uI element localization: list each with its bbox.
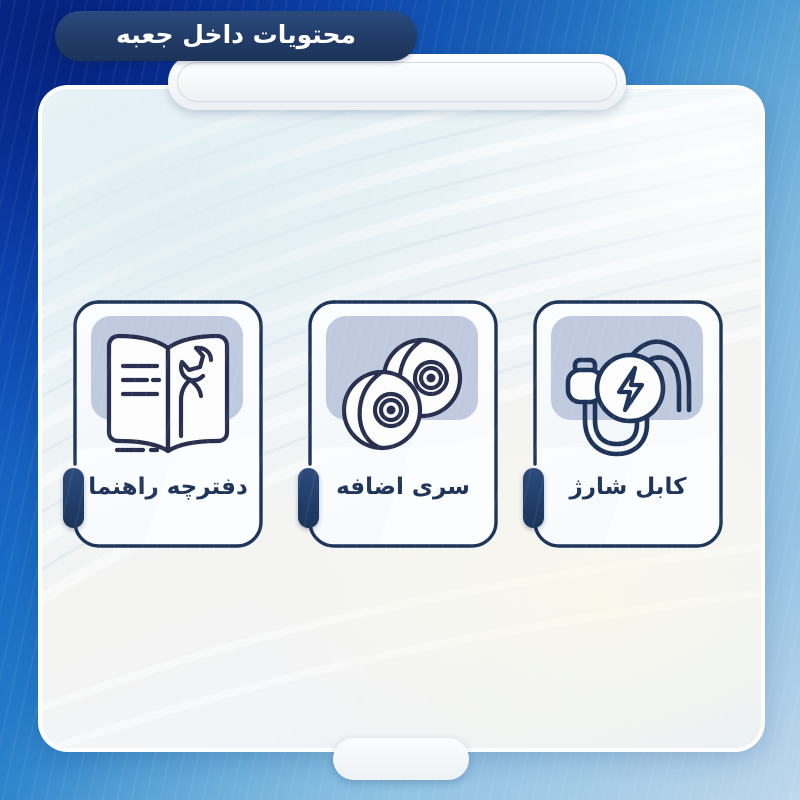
card-accent-pill [523, 468, 544, 528]
open-book-wrench-icon [95, 320, 241, 470]
infographic-canvas: محتویات داخل جعبه [0, 0, 800, 800]
card-accent-pill [63, 468, 84, 528]
title-pill-inner: محتویات داخل جعبه [55, 11, 417, 61]
card-manual[interactable]: دفترچه راهنما [73, 300, 263, 548]
card-charging-cable[interactable]: کابل شارژ [533, 300, 723, 548]
card-accent-pill [298, 468, 319, 528]
cards-row: دفترچه راهنما [0, 0, 800, 800]
card-extra-tips[interactable]: سری اضافه [308, 300, 498, 548]
page-title: محتویات داخل جعبه [116, 22, 356, 50]
card-label-charging-cable: کابل شارژ [533, 476, 723, 499]
title-pill-outer [168, 54, 626, 110]
bottom-tab [333, 738, 469, 780]
charging-cable-icon [555, 320, 701, 470]
card-label-extra-tips: سری اضافه [308, 476, 498, 499]
ear-tips-icon [330, 320, 476, 470]
card-label-manual: دفترچه راهنما [73, 476, 263, 499]
